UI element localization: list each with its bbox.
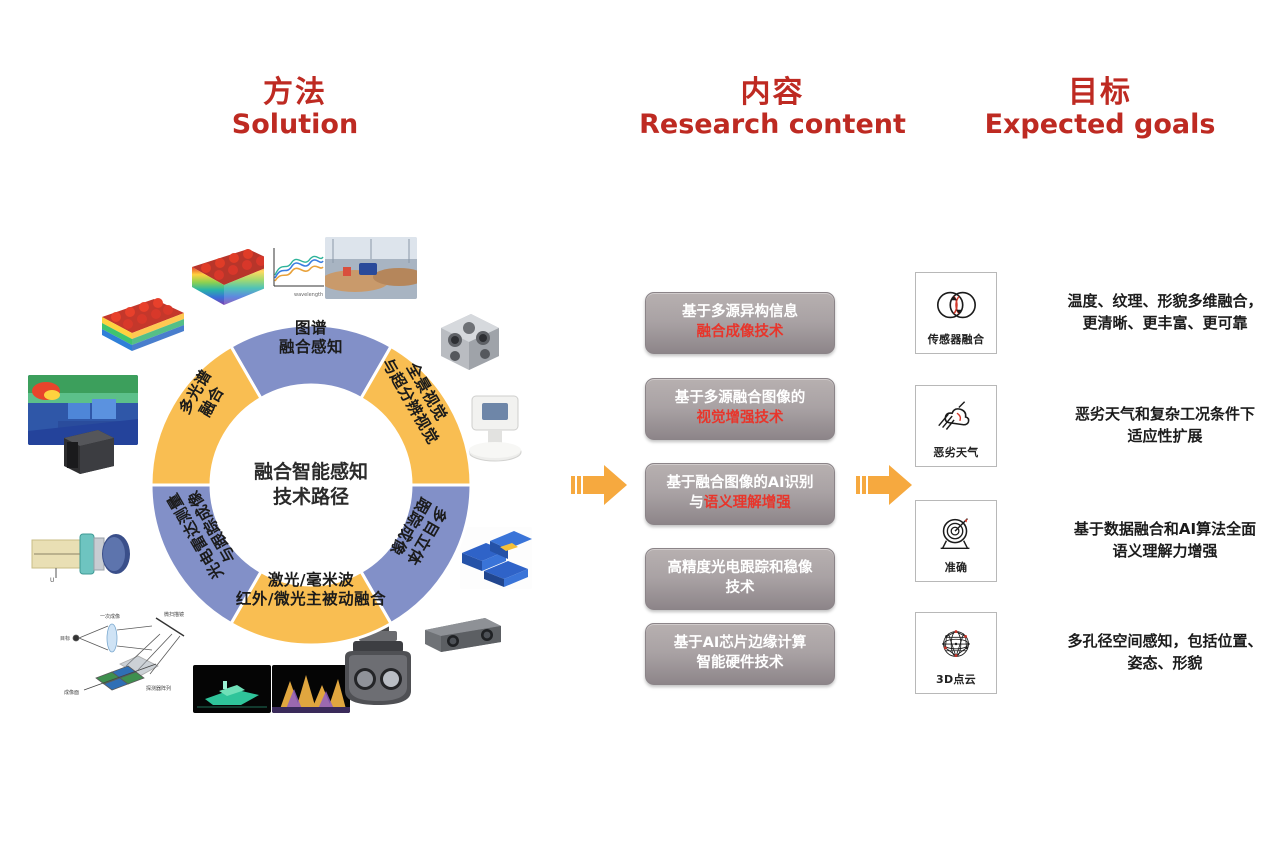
rain-cloud-icon [933,396,979,440]
svg-text:wavelength: wavelength [294,292,323,298]
goal-row-2: 准确 基于数据融合和AI算法全面 语义理解力增强 [915,500,1268,582]
goal-row-0: 传感器融合 温度、纹理、形貌多维融合， 更清晰、更丰富、更可靠 [915,272,1268,354]
technology-path-wheel: 图谱 融合感知 全景视觉 与超分辨视觉 多目立体 跟踪成像 激光/毫米波 红外/… [126,300,496,670]
diagram-canvas: 方法 Solution 内容 Research content 目标 Expec… [0,0,1268,866]
column-header-content: 内容 Research content [600,76,945,140]
column-header-content-cn: 内容 [600,76,945,110]
svg-text:目标: 目标 [60,635,70,642]
target-dartboard-icon [933,511,979,555]
arrow-solution-to-content [571,461,629,509]
goal-row-3: 3D点云 多孔径空间感知，包括位置、 姿态、形貌 [915,612,1268,694]
research-item-1-line1: 基于多源融合图像的 [675,390,806,406]
research-item-2-line2: 语义理解增强 [704,495,791,511]
svg-text:成像面: 成像面 [64,689,79,696]
column-header-goals-cn: 目标 [950,76,1250,110]
goal-card-caption-2: 准确 [945,559,968,575]
arrow-content-to-goals [856,461,914,509]
research-item-3-line1: 高精度光电跟踪和稳像 [668,560,813,576]
goal-card-caption-0: 传感器融合 [928,331,985,347]
goal-text-0: 温度、纹理、形貌多维融合， 更清晰、更丰富、更可靠 [1035,291,1268,335]
pipeline-inspection-photo [325,237,417,299]
goal-card-caption-1: 恶劣天气 [933,444,978,460]
column-header-goals-en: Expected goals [950,110,1250,140]
research-item-4-line1: 基于AI芯片边缘计算 [674,635,807,651]
research-item-2[interactable]: 基于融合图像的AI识别 与语义理解增强 [645,463,835,525]
svg-text:U: U [50,577,54,584]
column-header-goals: 目标 Expected goals [950,76,1250,140]
goal-card-caption-3: 3D点云 [936,671,976,687]
goal-text-2: 基于数据融合和AI算法全面 语义理解力增强 [1035,519,1268,563]
column-header-solution: 方法 Solution [165,76,425,140]
optical-bench-diagram: U [22,520,140,584]
research-item-3-line2: 技术 [726,580,755,596]
column-header-solution-cn: 方法 [165,76,425,110]
goal-text-1: 恶劣天气和复杂工况条件下 适应性扩展 [1035,404,1268,448]
column-header-solution-en: Solution [165,110,425,140]
research-item-3[interactable]: 高精度光电跟踪和稳像 技术 [645,548,835,610]
wheel-label-0: 图谱 融合感知 [239,319,383,357]
research-item-1[interactable]: 基于多源融合图像的 视觉增强技术 [645,378,835,440]
goal-card-sensor-fusion[interactable]: 传感器融合 [915,272,997,354]
lidar-point-cloud-ship-photo [193,665,271,713]
research-item-1-line2: 视觉增强技术 [697,410,784,426]
two-overlapping-circles-icon [933,283,979,327]
goal-card-point-cloud[interactable]: 3D点云 [915,612,997,694]
research-item-2-prefix: 与 [689,495,704,511]
goal-card-bad-weather[interactable]: 恶劣天气 [915,385,997,467]
goal-card-accuracy[interactable]: 准确 [915,500,997,582]
wheel-center-label: 融合智能感知 技术路径 [216,460,406,510]
research-item-2-line1: 基于融合图像的AI识别 [666,475,813,491]
research-item-0-line2: 融合成像技术 [697,324,784,340]
column-header-content-en: Research content [600,110,945,140]
svg-text:探测器阵列: 探测器阵列 [146,685,171,692]
goal-text-3: 多孔径空间感知，包括位置、 姿态、形貌 [1035,631,1268,675]
research-item-4[interactable]: 基于AI芯片边缘计算 智能硬件技术 [645,623,835,685]
svg-text:一次成像: 一次成像 [100,613,120,620]
black-camera-module-photo [58,424,118,478]
research-item-0-line1: 基于多源异构信息 [682,304,798,320]
research-item-4-line2: 智能硬件技术 [697,655,784,671]
goal-row-1: 恶劣天气 恶劣天气和复杂工况条件下 适应性扩展 [915,385,1268,467]
spectral-curve-chart-photo: wavelength [264,242,330,300]
research-item-0[interactable]: 基于多源异构信息 融合成像技术 [645,292,835,354]
point-cloud-sphere-icon [933,623,979,667]
